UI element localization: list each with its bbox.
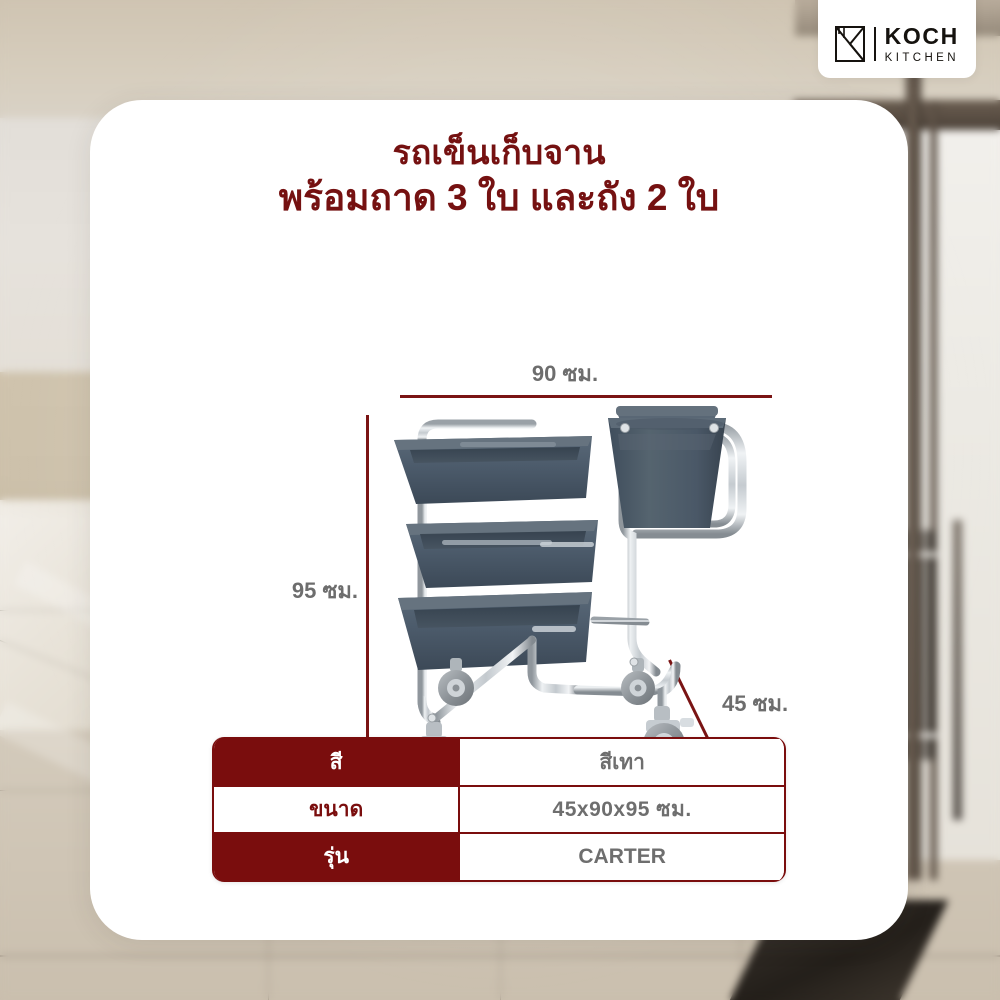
brand-logo: KOCH KITCHEN [818,0,976,78]
title-line-1: รถเข็นเก็บจาน [90,134,908,173]
brand-name-primary: KOCH [885,25,959,48]
dimension-height-label: 95 ซม. [258,573,358,608]
spec-value-size: 45x90x95 ซม. [458,785,784,833]
specification-table: สี สีเทา ขนาด 45x90x95 ซม. รุ่น CARTER [212,737,786,882]
spec-key-model: รุ่น [214,834,458,880]
spec-value-color: สีเทา [458,739,784,785]
table-row: สี สีเทา [214,737,784,785]
product-card: รถเข็นเก็บจาน พร้อมถาด 3 ใบ และถัง 2 ใบ … [90,100,908,940]
trolley-tray-bottom [398,592,592,670]
page-title: รถเข็นเก็บจาน พร้อมถาด 3 ใบ และถัง 2 ใบ [90,134,908,220]
brand-name-secondary: KITCHEN [885,53,959,65]
table-row: ขนาด 45x90x95 ซม. [214,785,784,833]
spec-value-model: CARTER [458,834,784,880]
trolley-bucket-rear [616,406,718,420]
product-banner: KOCH KITCHEN รถเข็นเก็บจาน พร้อมถาด 3 ใบ… [0,0,1000,1000]
trolley-tray-top [394,436,592,504]
dimension-width-label: 90 ซม. [470,356,660,391]
spec-key-color: สี [214,739,458,785]
logo-divider [874,27,876,61]
title-line-2: พร้อมถาด 3 ใบ และถัง 2 ใบ [90,177,908,220]
trolley-tray-middle [406,520,598,588]
dimension-width-line [400,395,772,398]
trolley-bucket-front [608,418,726,528]
table-row: รุ่น CARTER [214,834,784,882]
spec-key-size: ขนาด [214,785,458,833]
dimension-height-line [366,415,369,765]
koch-k-monogram-icon [835,26,865,62]
